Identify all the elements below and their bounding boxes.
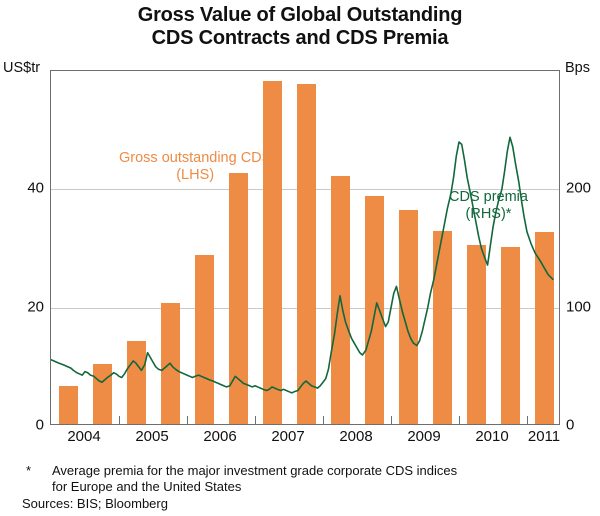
right-axis-tick-label: 100 bbox=[566, 298, 591, 315]
x-axis-tick-label: 2006 bbox=[203, 428, 236, 445]
legend-lhs-line-1: Gross outstanding CDS bbox=[119, 150, 271, 167]
x-axis-tick-mark bbox=[187, 416, 188, 424]
chart-title-line-2: CDS Contracts and CDS Premia bbox=[0, 27, 600, 50]
x-axis-tick-label: 2007 bbox=[271, 428, 304, 445]
x-axis-tick-mark bbox=[323, 416, 324, 424]
x-axis-tick-label: 2009 bbox=[407, 428, 440, 445]
plot-area: Gross outstanding CDS (LHS) CDS premia (… bbox=[50, 70, 560, 425]
chart-title-line-1: Gross Value of Global Outstanding bbox=[138, 4, 463, 26]
legend-rhs-line-2: (RHS)* bbox=[449, 206, 528, 223]
x-axis-tick-label: 2005 bbox=[135, 428, 168, 445]
chart-title: Gross Value of Global Outstanding CDS Co… bbox=[0, 4, 600, 50]
x-axis-tick-label: 2011 bbox=[528, 428, 560, 445]
x-axis-tick-mark bbox=[459, 416, 460, 424]
x-axis-tick-label: 2008 bbox=[339, 428, 372, 445]
legend-lhs-line-2: (LHS) bbox=[119, 167, 271, 184]
legend-gross-outstanding-cds: Gross outstanding CDS (LHS) bbox=[119, 150, 271, 184]
left-axis-tick-label: 20 bbox=[27, 298, 44, 315]
x-axis-tick-mark bbox=[527, 416, 528, 424]
left-axis-unit-label: US$tr bbox=[3, 60, 40, 76]
left-axis-tick-label: 40 bbox=[27, 180, 44, 197]
sources-text: Sources: BIS; Bloomberg bbox=[22, 496, 168, 512]
legend-cds-premia: CDS premia (RHS)* bbox=[449, 189, 528, 223]
footnote-line-1: Average premia for the major investment … bbox=[52, 463, 582, 479]
legend-rhs-line-1: CDS premia bbox=[449, 189, 528, 206]
footnote-text: Average premia for the major investment … bbox=[52, 463, 582, 494]
chart-figure: Gross Value of Global Outstanding CDS Co… bbox=[0, 0, 600, 516]
x-axis-tick-mark bbox=[119, 416, 120, 424]
x-axis-tick-label: 2010 bbox=[475, 428, 508, 445]
x-axis-tick-mark bbox=[255, 416, 256, 424]
footnote-line-2: for Europe and the United States bbox=[52, 479, 582, 495]
left-axis-tick-label: 0 bbox=[36, 417, 44, 434]
line-series-cds-premia bbox=[51, 71, 560, 425]
right-axis-tick-label: 200 bbox=[566, 180, 591, 197]
footnote-marker: * bbox=[26, 463, 31, 479]
x-axis-tick-label: 2004 bbox=[67, 428, 100, 445]
x-axis-tick-labels: 20042005200620072008200920102011 bbox=[50, 428, 560, 450]
right-axis-unit-label: Bps bbox=[565, 60, 590, 76]
x-axis-tick-mark bbox=[391, 416, 392, 424]
right-axis-tick-label: 0 bbox=[566, 417, 574, 434]
